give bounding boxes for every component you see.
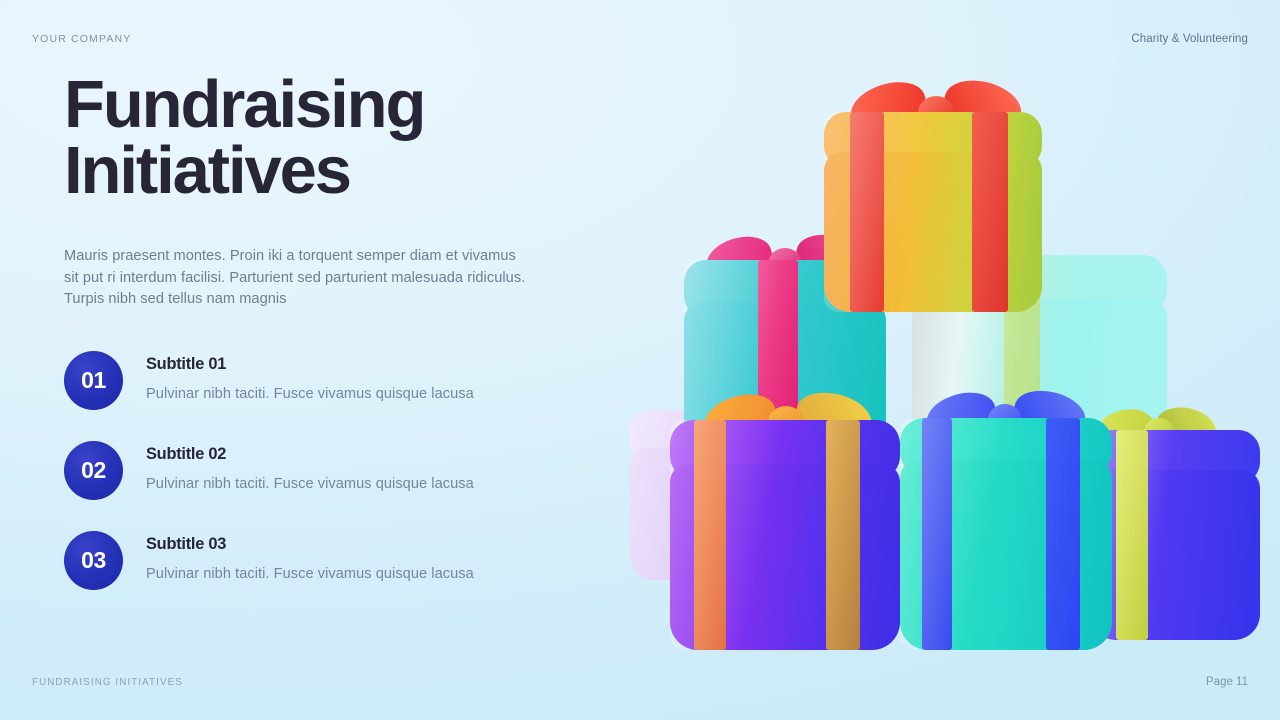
list-item-desc: Pulvinar nibh taciti. Fusce vivamus quis… [146,476,474,492]
list-item: 03 Subtitle 03 Pulvinar nibh taciti. Fus… [64,528,584,590]
top-orange-gift-box [824,112,1042,312]
list-item-desc: Pulvinar nibh taciti. Fusce vivamus quis… [146,566,474,582]
number-badge: 02 [64,441,123,500]
bottom-purple-gift-box [670,420,900,650]
list-item-title: Subtitle 02 [146,445,474,464]
page-title: Fundraising Initiatives [64,72,584,203]
title-line-1: Fundraising [64,72,584,138]
number-badge: 03 [64,531,123,590]
number-badge: 01 [64,351,123,410]
list-item-title: Subtitle 03 [146,535,474,554]
gift-highlight [900,418,1112,650]
list-item-title: Subtitle 01 [146,355,474,374]
gift-highlight [824,112,1042,312]
company-label: YOUR COMPANY [32,33,131,45]
title-line-2: Initiatives [64,138,584,204]
right-violet-gift-box [1090,430,1260,640]
page-number: Page 11 [1206,676,1248,688]
list-item: 01 Subtitle 01 Pulvinar nibh taciti. Fus… [64,348,584,410]
gift-highlight [1090,430,1260,640]
list-item: 02 Subtitle 02 Pulvinar nibh taciti. Fus… [64,438,584,500]
gift-highlight [670,420,900,650]
list-item-body: Subtitle 03 Pulvinar nibh taciti. Fusce … [146,528,474,582]
content-column: Fundraising Initiatives Mauris praesent … [64,72,584,618]
list-item-desc: Pulvinar nibh taciti. Fusce vivamus quis… [146,386,474,402]
footer-title: FUNDRAISING INITIATIVES [32,677,183,688]
list-item-body: Subtitle 01 Pulvinar nibh taciti. Fusce … [146,348,474,402]
list-item-body: Subtitle 02 Pulvinar nibh taciti. Fusce … [146,438,474,492]
category-label: Charity & Volunteering [1131,33,1248,45]
bottom-turquoise-gift-box [900,418,1112,650]
slide-footer: FUNDRAISING INITIATIVES Page 11 [0,676,1280,688]
numbered-list: 01 Subtitle 01 Pulvinar nibh taciti. Fus… [64,348,584,590]
gift-boxes-illustration [612,60,1252,640]
slide-header: YOUR COMPANY Charity & Volunteering [0,33,1280,45]
intro-paragraph: Mauris praesent montes. Proin iki a torq… [64,246,532,310]
